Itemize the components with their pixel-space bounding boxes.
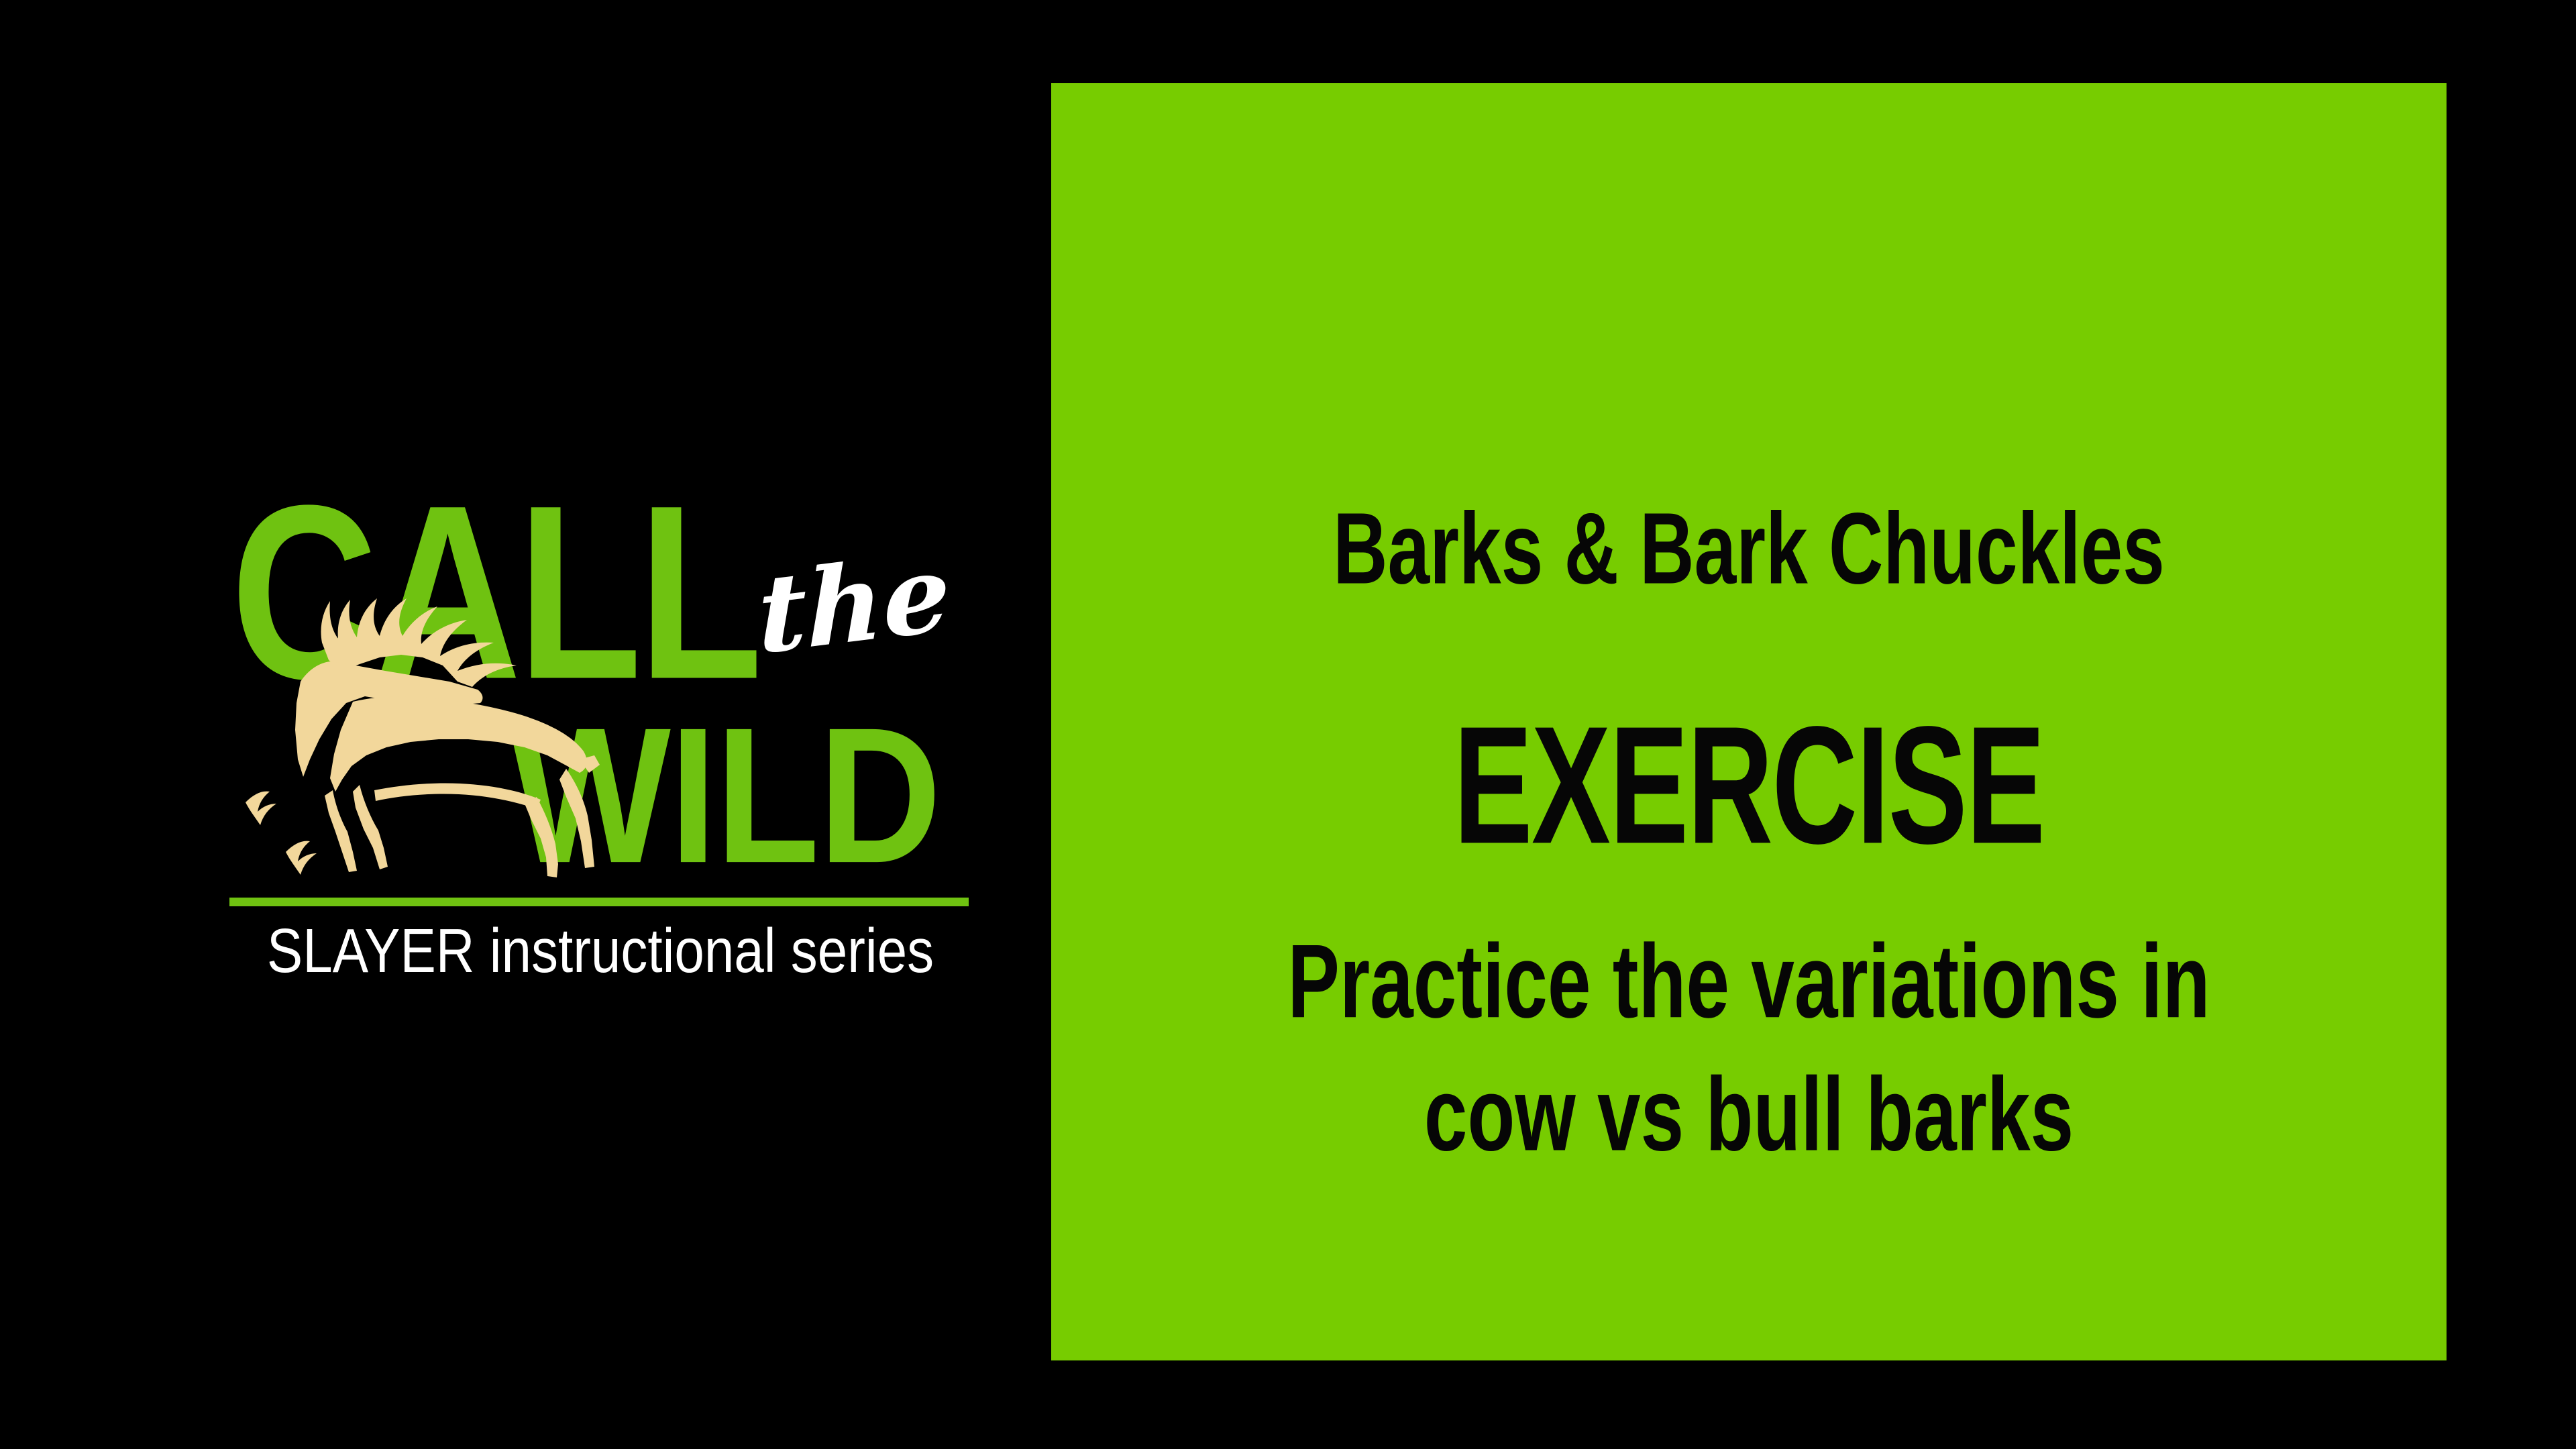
logo-word-wild: WILD xyxy=(510,699,940,892)
logo-tagline: SLAYER instructional series xyxy=(254,918,947,984)
panel-heading: EXERCISE xyxy=(1156,700,2342,871)
logo-word-the: the xyxy=(757,539,951,669)
slide-canvas: CALL the WILD SLAYER instructional serie… xyxy=(0,0,2576,1449)
panel-body-line-2: cow vs bull barks xyxy=(1135,1048,2363,1181)
exercise-panel: Barks & Bark Chuckles EXERCISE Practice … xyxy=(1051,83,2447,1360)
logo-divider-rule xyxy=(229,898,969,906)
brand-logo: CALL the WILD SLAYER instructional serie… xyxy=(228,463,973,973)
logo-wordmark: CALL the WILD xyxy=(228,463,973,879)
logo-word-call: CALL xyxy=(231,468,759,716)
panel-title: Barks & Bark Chuckles xyxy=(1135,498,2363,600)
panel-body-line-1: Practice the variations in xyxy=(1135,915,2363,1048)
panel-body: Practice the variations in cow vs bull b… xyxy=(1135,915,2363,1181)
exercise-panel-content: Barks & Bark Chuckles EXERCISE Practice … xyxy=(1051,83,2447,1360)
